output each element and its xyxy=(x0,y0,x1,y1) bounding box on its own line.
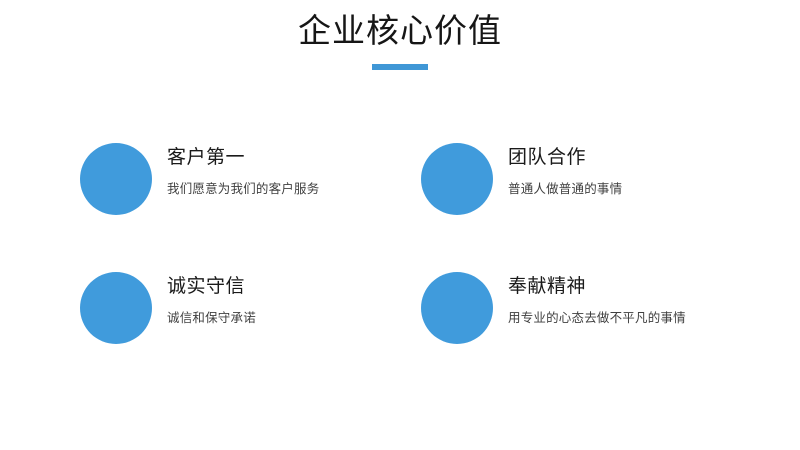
value-item-customer-first: 客户第一 我们愿意为我们的客户服务 xyxy=(80,143,420,243)
value-description: 我们愿意为我们的客户服务 xyxy=(167,180,417,197)
value-description: 普通人做普通的事情 xyxy=(508,180,758,197)
value-item-dedication: 奉献精神 用专业的心态去做不平凡的事情 xyxy=(421,272,761,372)
value-heading: 诚实守信 xyxy=(167,272,417,300)
filled-circle-icon xyxy=(80,272,152,344)
value-text-block: 奉献精神 用专业的心态去做不平凡的事情 xyxy=(508,272,758,326)
value-text-block: 诚实守信 诚信和保守承诺 xyxy=(167,272,417,326)
filled-circle-icon xyxy=(421,272,493,344)
filled-circle-icon xyxy=(80,143,152,215)
filled-circle-icon xyxy=(421,143,493,215)
value-text-block: 团队合作 普通人做普通的事情 xyxy=(508,143,758,197)
value-heading: 奉献精神 xyxy=(508,272,758,300)
presentation-slide: 企业核心价值 客户第一 我们愿意为我们的客户服务 团队合作 普通人做普通的事情 … xyxy=(0,0,800,450)
value-item-integrity: 诚实守信 诚信和保守承诺 xyxy=(80,272,420,372)
value-heading: 客户第一 xyxy=(167,143,417,171)
value-description: 用专业的心态去做不平凡的事情 xyxy=(508,309,758,326)
value-item-teamwork: 团队合作 普通人做普通的事情 xyxy=(421,143,761,243)
value-heading: 团队合作 xyxy=(508,143,758,171)
value-text-block: 客户第一 我们愿意为我们的客户服务 xyxy=(167,143,417,197)
value-description: 诚信和保守承诺 xyxy=(167,309,417,326)
core-values-grid: 客户第一 我们愿意为我们的客户服务 团队合作 普通人做普通的事情 诚实守信 诚信… xyxy=(0,0,800,450)
